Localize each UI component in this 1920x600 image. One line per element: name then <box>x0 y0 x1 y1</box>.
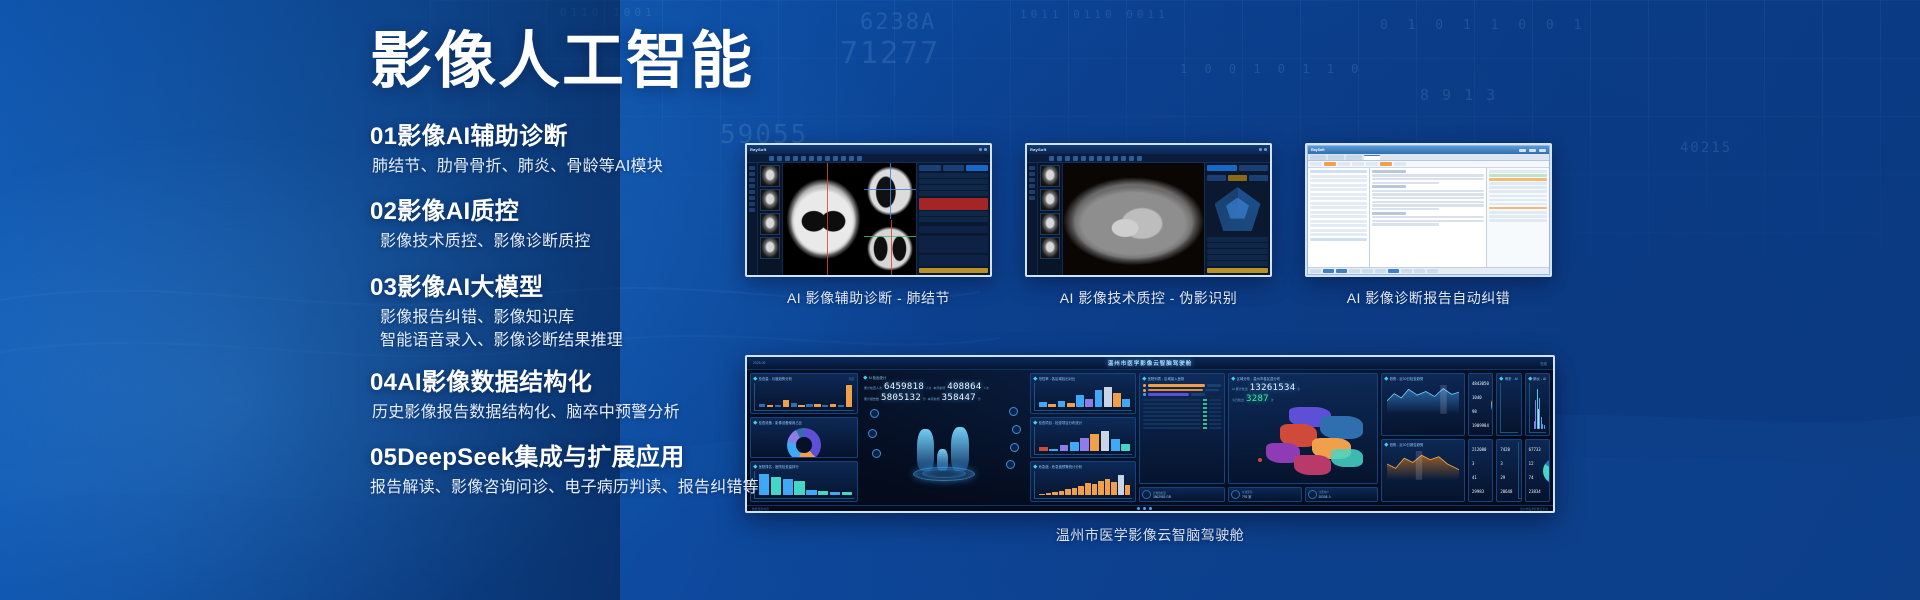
correction-accepted[interactable] <box>1489 174 1547 177</box>
finding-row[interactable] <box>919 211 988 216</box>
bullet-icon <box>1033 421 1037 425</box>
tool-icon[interactable] <box>1089 156 1094 161</box>
card-title: 区域分布 - 温州市各区县分布 <box>1237 376 1281 381</box>
tool-icon[interactable] <box>1049 156 1054 161</box>
tree-item[interactable] <box>1310 220 1367 223</box>
stat-chip[interactable]: 影像数据量 3862983 GB <box>1139 487 1225 502</box>
tool-icon[interactable] <box>841 156 846 161</box>
finding-row[interactable] <box>919 217 988 222</box>
series-thumbnail[interactable] <box>1040 189 1060 211</box>
tab-item[interactable] <box>1346 155 1362 160</box>
dashboard-card-exam-items[interactable]: 检查项目 - 检查项目分布统计 <box>1030 417 1136 458</box>
tree-item[interactable] <box>1310 202 1367 205</box>
feature-desc-01: 肺结节、肋骨骨折、肺炎、骨龄等AI模块 <box>370 155 810 178</box>
orbit-icon <box>1010 443 1019 452</box>
feature-desc-04: 历史影像报告数据结构化、脑卒中预警分析 <box>370 401 810 424</box>
footer-button[interactable] <box>1414 269 1425 274</box>
tab-item[interactable] <box>1328 155 1344 160</box>
tree-item[interactable] <box>1310 206 1367 209</box>
tab-bar[interactable] <box>1308 154 1549 161</box>
finding-note <box>919 236 988 253</box>
kpi-label: 累计检查人次 <box>864 386 882 390</box>
banner-root: 6238A 71277 59055 26752 0 1 0 1 1 0 0 1 … <box>0 0 1920 600</box>
qc-score-panel[interactable] <box>1204 163 1270 275</box>
app-logo: RaySoft <box>1030 147 1047 152</box>
kpi-unit: 份 <box>978 397 981 401</box>
footer-button[interactable] <box>1401 269 1412 274</box>
bullet-icon <box>1384 377 1388 381</box>
rail-icon[interactable] <box>1029 196 1035 200</box>
close-icon <box>984 148 987 151</box>
bullet-icon <box>1528 377 1532 381</box>
kpi-label: 本月新增 <box>928 397 940 401</box>
report-line <box>1372 197 1484 199</box>
report-heading <box>1372 170 1406 173</box>
bullet-icon <box>1033 377 1037 381</box>
database-icon <box>1231 490 1240 499</box>
app-titlebar: RaySoft <box>1027 145 1270 154</box>
chart-exam-items <box>1034 427 1132 455</box>
toolbar-button[interactable] <box>1310 162 1322 167</box>
chip-value: 793 家 <box>1242 494 1252 499</box>
user-icon <box>1308 490 1317 499</box>
dashboard-card-bone-age-ai[interactable]: 212080 3 41 29983 <box>1468 439 1493 502</box>
tree-item[interactable] <box>1310 175 1367 178</box>
report-line <box>1372 182 1439 184</box>
hospital-icon <box>1142 490 1151 499</box>
tree-item[interactable] <box>1310 197 1367 200</box>
report-line <box>1372 174 1484 176</box>
correction-line <box>1489 195 1547 198</box>
report-toolbar[interactable] <box>1308 161 1549 168</box>
report-line <box>1372 190 1484 192</box>
finding-row[interactable] <box>919 173 988 178</box>
report-editor[interactable] <box>1370 168 1487 267</box>
tool-icon[interactable] <box>833 156 838 161</box>
tree-item[interactable] <box>1310 233 1367 236</box>
tree-item[interactable] <box>1310 188 1367 191</box>
chip-value: 3862983 GB <box>1153 495 1171 499</box>
bullet-icon <box>1500 377 1504 381</box>
toolbar-button[interactable] <box>1352 162 1364 167</box>
orbit-icon <box>870 409 879 418</box>
card-title: 骨折 - AI检出统计 <box>1505 376 1518 381</box>
report-line <box>1372 223 1439 225</box>
card-title: 检查项目 - 检查项目分布统计 <box>1039 420 1083 425</box>
status-badge <box>1207 268 1268 273</box>
screenshot-image-artifact-qc: RaySoft <box>1025 143 1272 277</box>
report-line <box>1372 208 1439 210</box>
finding-row[interactable] <box>919 191 988 196</box>
report-line <box>1372 216 1484 218</box>
tab-item-active[interactable] <box>1364 155 1380 160</box>
kpi-label: AI 累计检出 <box>1232 387 1248 391</box>
tool-icon[interactable] <box>1097 156 1102 161</box>
orbit-icon <box>1012 425 1021 434</box>
bullet-icon <box>1384 443 1388 447</box>
bullet-icon <box>1231 377 1235 381</box>
tree-header <box>1310 238 1367 241</box>
screenshot-row: RaySoft <box>745 143 1552 308</box>
dashboard-card-positive-rate[interactable]: 阳性率 - 各区域检出对比 <box>1030 373 1136 414</box>
dashboard-card-hospital-list[interactable]: 医院列表 - 区域接入医院 <box>1139 373 1225 484</box>
series-thumbnail[interactable] <box>1040 237 1060 259</box>
kpi-row: AI 累计检出 13261534 次 <box>1232 383 1374 393</box>
hospital-list[interactable] <box>1143 383 1221 481</box>
panel-button[interactable] <box>919 165 941 171</box>
chip-value: 25308 人 <box>1319 494 1332 499</box>
screenshot-card-report-correction[interactable]: RaySoft <box>1305 143 1552 308</box>
qc-row[interactable] <box>1207 243 1268 248</box>
dashboard-header-title: 温州市医学影像云智脑驾驶舱 <box>1108 359 1193 367</box>
ai-correction-panel[interactable] <box>1487 168 1549 267</box>
qc-row[interactable] <box>1207 249 1268 254</box>
kpi-value: 408864 <box>947 382 981 392</box>
chart-report-trend-30d <box>1385 449 1461 499</box>
kpi-row: 累计报告数 5805132 份 本月新增 358447 份 <box>864 393 1024 403</box>
finding-note <box>919 226 988 234</box>
kpi-unit: 人次 <box>926 386 931 390</box>
kpi-label: 今日检出 <box>1232 398 1244 402</box>
tool-icon[interactable] <box>1065 156 1070 161</box>
tool-icon[interactable] <box>817 156 822 161</box>
dashboard-card-exam-trend-30d[interactable]: 趋势 - 近30日检查趋势 <box>1381 373 1465 436</box>
tool-icon[interactable] <box>1129 156 1134 161</box>
orbit-icon <box>1006 460 1015 469</box>
tree-item[interactable] <box>1310 193 1367 196</box>
viewer-toolbar[interactable] <box>1027 154 1270 163</box>
report-heading <box>1372 185 1406 188</box>
legend-entry <box>1137 507 1140 510</box>
card-title: 危急值 - 危急值预警统计分析 <box>1039 464 1083 469</box>
rail-icon[interactable] <box>1029 166 1035 170</box>
secondary-image-coronal[interactable] <box>864 163 916 219</box>
panel-button-primary[interactable] <box>966 165 988 171</box>
feature-desc-03: 影像报告纠错、影像知识库 智能语音录入、影像诊断结果推理 <box>370 306 810 352</box>
feature-desc-05: 报告解读、影像咨询问诊、电子病历判读、报告纠错等 <box>370 476 810 499</box>
dashboard-card-pneumonia-ai[interactable]: 肺炎 - AI检出统计 <box>1525 373 1550 436</box>
footer-button[interactable] <box>1375 269 1386 274</box>
headline-column: 影像人工智能 01影像AI辅助诊断 肺结节、肋骨骨折、肺炎、骨龄等AI模块 02… <box>370 28 810 518</box>
feature-item-04: 04AI影像数据结构化 历史影像报告数据结构化、脑卒中预警分析 <box>370 368 810 424</box>
kpi-label: 本月新增 <box>933 386 945 390</box>
maximize-icon[interactable] <box>1529 149 1536 152</box>
chart-fracture-ai <box>1500 383 1517 433</box>
footer-button[interactable] <box>1310 269 1321 274</box>
report-line <box>1372 204 1484 206</box>
bullet-icon <box>1142 377 1146 381</box>
kpi-value: 5805132 <box>881 393 921 403</box>
orbit-icon <box>868 429 877 438</box>
minimize-icon[interactable] <box>1519 149 1526 152</box>
tree-item[interactable] <box>1310 179 1367 182</box>
card-tag: 月度 <box>848 377 854 381</box>
tool-icon[interactable] <box>849 156 854 161</box>
feature-title-05: 05DeepSeek集成与扩展应用 <box>370 443 810 473</box>
secondary-image-sagittal[interactable] <box>864 220 916 276</box>
card-title: 趋势 - 近30日报告趋势 <box>1390 442 1424 447</box>
kpi-label: 累计报告数 <box>864 397 879 401</box>
tool-icon[interactable] <box>1081 156 1086 161</box>
close-icon[interactable] <box>1539 149 1546 152</box>
dashboard-card-region-map[interactable]: 区域分布 - 温州市各区县分布 AI 累计检出 13261534 次 今日检出 … <box>1228 373 1378 484</box>
dashboard-image: 2025-06 温州市医学影像云智脑驾驶舱 在线 检查量 - 月度趋势分析 月度 <box>745 355 1555 513</box>
report-line <box>1372 220 1484 222</box>
dashboard-footer-right: 温州市医学影像云平台 <box>1520 507 1548 511</box>
tool-icon[interactable] <box>857 156 862 161</box>
dashboard-header: 2025-06 温州市医学影像云智脑驾驶舱 在线 <box>747 357 1553 370</box>
feature-item-03: 03影像AI大模型 影像报告纠错、影像知识库 智能语音录入、影像诊断结果推理 <box>370 273 810 352</box>
tool-icon[interactable] <box>825 156 830 161</box>
screenshot-caption-lung-nodule: AI 影像辅助诊断 - 肺结节 <box>787 288 950 308</box>
footer-button[interactable] <box>1362 269 1373 274</box>
footer-button[interactable] <box>1349 269 1360 274</box>
panel-button-active[interactable] <box>1228 175 1247 181</box>
report-line <box>1372 193 1484 195</box>
kpi-value: 6459818 <box>884 382 924 392</box>
finding-note <box>919 255 988 266</box>
dashboard-card-lung-nodule-ai[interactable]: 4843050 1040 98 1909984 <box>1468 373 1493 436</box>
feature-title-02: 02影像AI质控 <box>370 197 810 227</box>
correction-line <box>1489 211 1547 214</box>
app-logo: RaySoft <box>1311 148 1325 152</box>
tree-item[interactable] <box>1310 215 1367 218</box>
panel-tab[interactable] <box>1239 165 1269 171</box>
app-titlebar: RaySoft <box>1308 146 1549 154</box>
finding-row[interactable] <box>919 185 988 190</box>
tree-header <box>1310 170 1367 173</box>
feature-item-02: 02影像AI质控 影像技术质控、影像诊断质控 <box>370 197 810 253</box>
tool-icon[interactable] <box>1105 156 1110 161</box>
legend-entry <box>1149 507 1152 510</box>
series-thumbnail[interactable] <box>1040 213 1060 235</box>
feature-desc-02: 影像技术质控、影像诊断质控 <box>370 230 810 253</box>
dashboard-card-fracture-ai[interactable]: 骨折 - AI检出统计 <box>1496 373 1521 436</box>
toolbar-button[interactable] <box>1366 162 1378 167</box>
screenshot-image-report-correction: RaySoft <box>1305 143 1552 277</box>
toolbar-button[interactable] <box>1394 162 1406 167</box>
kpi-value: 358447 <box>942 393 976 403</box>
kpi-unit: 次 <box>1271 398 1274 402</box>
correction-line <box>1489 182 1547 185</box>
card-title: AI 检出统计 <box>869 375 887 380</box>
rail-icon[interactable] <box>1029 184 1035 188</box>
correction-line <box>1489 190 1547 193</box>
qc-row[interactable] <box>1207 237 1268 242</box>
page-title: 影像人工智能 <box>370 28 810 96</box>
legend-entry <box>1143 507 1146 510</box>
chart-positive-rate <box>1034 383 1132 411</box>
feature-item-05: 05DeepSeek集成与扩展应用 报告解读、影像咨询问诊、电子病历判读、报告纠… <box>370 443 810 499</box>
chart-pneumonia-ai <box>1529 383 1546 433</box>
tree-item[interactable] <box>1310 229 1367 232</box>
card-title: 医院列表 - 区域接入医院 <box>1148 376 1185 381</box>
series-thumbnail-list[interactable] <box>1038 163 1063 275</box>
chart-exam-trend-30d <box>1385 383 1461 433</box>
rail-icon[interactable] <box>1029 178 1035 182</box>
rail-icon[interactable] <box>1029 190 1035 194</box>
feature-item-01: 01影像AI辅助诊断 肺结节、肋骨骨折、肺炎、骨龄等AI模块 <box>370 122 810 178</box>
primary-image-axial[interactable] <box>1063 163 1204 275</box>
radar-chart <box>1215 187 1261 231</box>
qc-row[interactable] <box>1207 261 1268 266</box>
stat-chip[interactable]: 注册用户 25308 人 <box>1305 487 1379 502</box>
close-icon <box>1264 148 1267 151</box>
card-title: 肺炎 - AI检出统计 <box>1533 376 1546 381</box>
screenshot-caption-artifact-qc: AI 影像技术质控 - 伪影识别 <box>1060 288 1238 308</box>
kpi-unit: 份 <box>923 397 926 401</box>
correction-line <box>1489 219 1547 222</box>
kpi-value: 3287 <box>1246 394 1269 404</box>
feature-title-04: 04AI影像数据结构化 <box>370 368 810 398</box>
finding-row[interactable] <box>919 179 988 184</box>
ai-findings-panel[interactable] <box>916 163 990 275</box>
correction-line <box>1489 199 1547 202</box>
dashboard-card[interactable]: 2025-06 温州市医学影像云智脑驾驶舱 在线 检查量 - 月度趋势分析 月度 <box>745 355 1555 545</box>
correction-line <box>1489 203 1547 206</box>
tab-item[interactable] <box>1310 155 1326 160</box>
correction-line <box>1489 215 1547 218</box>
report-footer-toolbar[interactable] <box>1308 267 1549 274</box>
orbit-icon <box>1009 407 1018 416</box>
kpi-row: 累计检查人次 6459818 人次 本月新增 408864 人次 <box>864 382 1024 392</box>
tree-item[interactable] <box>1310 224 1367 227</box>
toolbar-button-primary[interactable] <box>1324 162 1336 167</box>
stat-chip-row: 影像数据量 3862983 GB <box>1139 487 1225 502</box>
viewer-side-rail[interactable] <box>1027 163 1038 275</box>
kpi-value: 13261534 <box>1250 383 1296 393</box>
dashboard-card-report-trend-30d[interactable]: 趋势 - 近30日报告趋势 <box>1381 439 1465 502</box>
tree-item[interactable] <box>1310 184 1367 187</box>
kpi-group-primary: 累计检查人次 6459818 人次 本月新增 408864 人次 累计报告数 5 <box>864 382 1024 403</box>
bullet-icon <box>1033 465 1037 469</box>
tool-icon[interactable] <box>1121 156 1126 161</box>
report-line <box>1372 178 1484 180</box>
bullet-icon <box>863 376 867 380</box>
stat-chip-row: 在线医院 793 家 注册用户 25308 人 <box>1228 487 1378 502</box>
tool-icon[interactable] <box>1073 156 1078 161</box>
kpi-unit: 人次 <box>984 386 989 390</box>
worklist-tree[interactable] <box>1308 168 1370 267</box>
window-control-icon <box>1259 148 1262 151</box>
stat-chip[interactable]: 在线医院 793 家 <box>1228 487 1302 502</box>
card-title: 趋势 - 近30日检查趋势 <box>1390 376 1424 381</box>
tool-icon[interactable] <box>1057 156 1062 161</box>
card-title: 阳性率 - 各区域检出对比 <box>1039 376 1076 381</box>
finding-row-selected[interactable] <box>919 198 988 210</box>
correction-pending[interactable] <box>1489 178 1547 181</box>
footer-button-primary[interactable] <box>1388 269 1399 274</box>
panel-button[interactable] <box>1207 175 1226 181</box>
series-thumbnail[interactable] <box>1040 165 1060 187</box>
report-heading <box>1372 212 1406 215</box>
status-badge <box>919 268 988 273</box>
rail-icon[interactable] <box>1029 172 1035 176</box>
screenshot-card-artifact-qc[interactable]: RaySoft <box>1025 143 1272 308</box>
tool-icon[interactable] <box>1137 156 1142 161</box>
kpi-row: 今日检出 3287 次 <box>1232 394 1374 404</box>
correction-line <box>1489 186 1547 189</box>
footer-button[interactable] <box>1427 269 1438 274</box>
dashboard-header-right: 在线 <box>1540 361 1547 366</box>
screenshot-caption-report-correction: AI 影像诊断报告自动纠错 <box>1347 288 1511 308</box>
footer-button-primary[interactable] <box>1323 269 1334 274</box>
kpi-unit: 次 <box>1297 387 1300 391</box>
dashboard-caption: 温州市医学影像云智脑驾驶舱 <box>745 525 1555 545</box>
feature-title-01: 01影像AI辅助诊断 <box>370 122 810 152</box>
chart-critical-value <box>1034 471 1132 499</box>
hologram-family-illustration <box>864 403 1024 500</box>
panel-tab[interactable] <box>1207 165 1237 171</box>
panel-button[interactable] <box>1249 175 1268 181</box>
panel-header <box>1489 170 1547 173</box>
toolbar-button[interactable] <box>1338 162 1350 167</box>
toolbar-button-primary[interactable] <box>1380 162 1392 167</box>
tool-icon[interactable] <box>1113 156 1118 161</box>
tree-item[interactable] <box>1310 211 1367 214</box>
qc-row[interactable] <box>1207 255 1268 260</box>
dashboard-card-critical-value[interactable]: 危急值 - 危急值预警统计分析 <box>1030 461 1136 502</box>
panel-button[interactable] <box>943 165 965 171</box>
orbit-icon <box>872 449 881 458</box>
window-control-icon <box>979 148 982 151</box>
report-line <box>1372 201 1484 203</box>
dashboard-footer: 数据更新时间 温州市医学影像云平台 <box>747 505 1553 511</box>
correction-pending[interactable] <box>1489 207 1547 210</box>
map-wenzhou-districts[interactable] <box>1232 404 1374 481</box>
feature-title-03: 03影像AI大模型 <box>370 273 810 303</box>
dashboard-card-stroke-ai[interactable]: 7428 3 29 20648 <box>1496 439 1521 502</box>
footer-button-primary[interactable] <box>1336 269 1347 274</box>
dashboard-card-pneumothorax-ai[interactable]: 67733 12 74 23834 <box>1525 439 1550 502</box>
